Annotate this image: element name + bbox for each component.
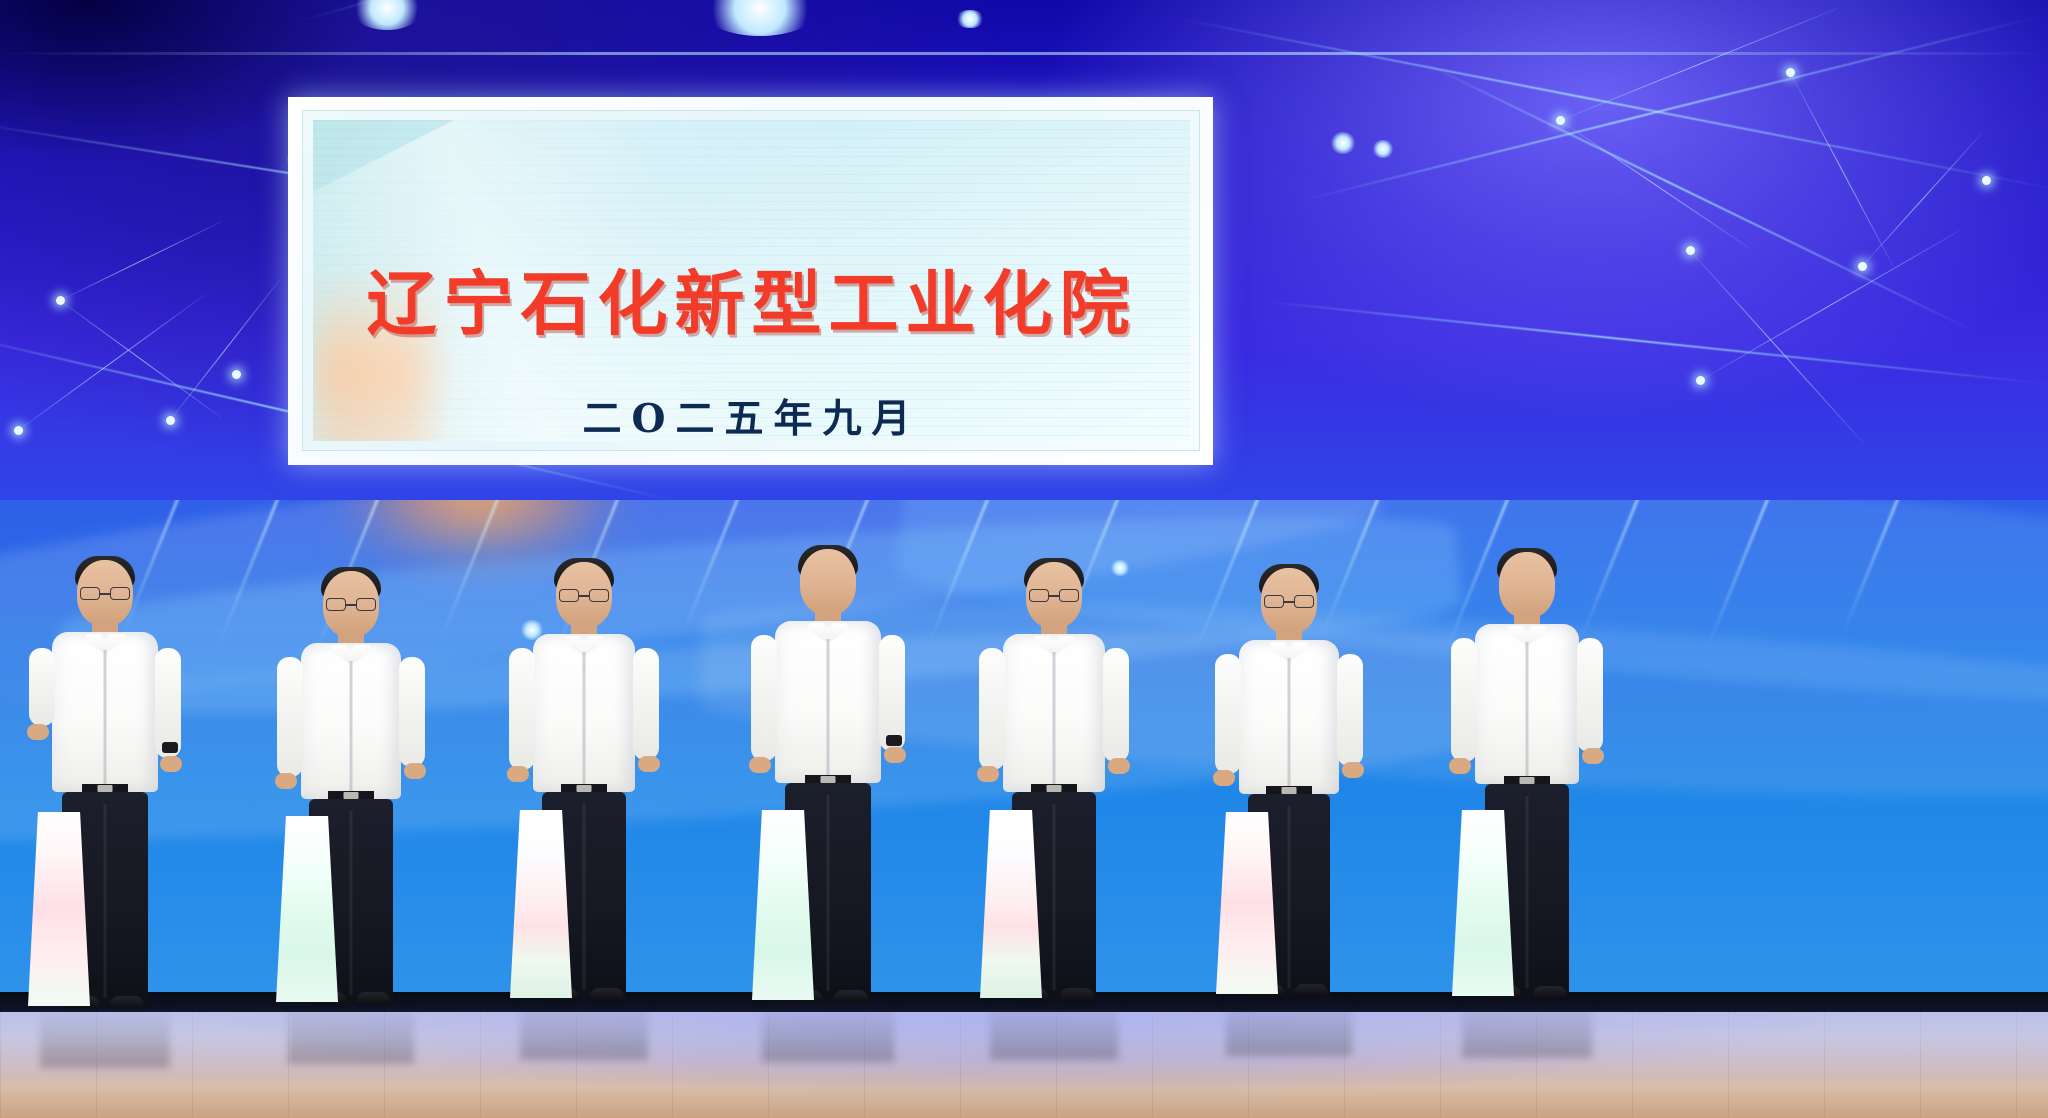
right-arm bbox=[1337, 654, 1363, 766]
left-hand bbox=[507, 766, 529, 782]
backdrop-glow bbox=[1330, 132, 1356, 154]
network-node bbox=[1858, 262, 1867, 271]
participant-reflection bbox=[1226, 994, 1352, 1056]
right-hand bbox=[160, 756, 182, 772]
right-hand bbox=[404, 763, 426, 779]
panel-screen: 辽宁石化新型工业化院 二O二五年九月 bbox=[313, 120, 1190, 441]
backdrop-horizon-line bbox=[0, 52, 2048, 55]
shirt-placket bbox=[350, 661, 353, 795]
network-node bbox=[1556, 116, 1565, 125]
podium-3[interactable] bbox=[510, 810, 572, 998]
right-arm bbox=[399, 657, 425, 767]
belt-buckle bbox=[1282, 787, 1297, 794]
network-node bbox=[166, 416, 175, 425]
head bbox=[800, 549, 856, 615]
right-arm bbox=[879, 635, 905, 751]
network-node bbox=[56, 296, 65, 305]
leg-split bbox=[1526, 796, 1529, 988]
head bbox=[1261, 568, 1317, 634]
participant-reflection bbox=[762, 1000, 894, 1062]
head bbox=[1026, 562, 1082, 628]
right-hand bbox=[638, 756, 660, 772]
belt-buckle bbox=[98, 785, 113, 792]
participant-reflection bbox=[520, 998, 648, 1060]
left-arm bbox=[509, 648, 535, 770]
leg-split bbox=[583, 804, 586, 990]
network-node bbox=[1786, 68, 1795, 77]
wristwatch bbox=[886, 735, 902, 746]
glasses-icon bbox=[80, 587, 130, 600]
left-arm bbox=[277, 657, 303, 777]
belt-buckle bbox=[821, 776, 836, 783]
backdrop-glow bbox=[955, 10, 985, 28]
page-title: 辽宁石化新型工业化院 bbox=[313, 248, 1190, 349]
leg-split bbox=[104, 804, 107, 998]
shirt bbox=[301, 643, 401, 799]
shirt bbox=[1239, 640, 1339, 794]
left-hand bbox=[977, 766, 999, 782]
belt-buckle bbox=[1520, 777, 1535, 784]
belt-buckle bbox=[1047, 785, 1062, 792]
shirt-placket bbox=[104, 650, 107, 788]
shirt bbox=[533, 634, 635, 792]
network-line bbox=[1789, 72, 1894, 267]
shirt bbox=[1003, 634, 1105, 792]
panel-date: 二O二五年九月 bbox=[313, 388, 1190, 441]
network-line bbox=[1861, 132, 1982, 267]
network-line bbox=[1560, 120, 1751, 250]
glasses-icon bbox=[1029, 589, 1079, 602]
podium-7[interactable] bbox=[1452, 810, 1514, 996]
left-arm bbox=[29, 648, 55, 726]
network-line bbox=[169, 278, 281, 421]
backdrop-glow bbox=[700, 0, 820, 36]
right-arm bbox=[1577, 638, 1603, 752]
network-line bbox=[60, 300, 223, 419]
podium-6[interactable] bbox=[1216, 812, 1278, 994]
belt-buckle bbox=[577, 785, 592, 792]
left-hand bbox=[27, 724, 49, 740]
left-arm bbox=[1451, 638, 1477, 762]
participant-reflection bbox=[288, 1002, 414, 1064]
right-arm bbox=[633, 648, 659, 760]
participant-reflection bbox=[990, 998, 1118, 1060]
leg-split bbox=[1288, 806, 1291, 988]
podium-2[interactable] bbox=[276, 816, 338, 1002]
belt-buckle bbox=[344, 792, 359, 799]
right-arm bbox=[1103, 648, 1129, 762]
left-arm bbox=[751, 635, 777, 761]
network-line bbox=[60, 221, 222, 301]
participant-reflection bbox=[1462, 996, 1592, 1058]
left-arm bbox=[979, 648, 1005, 770]
head bbox=[1499, 552, 1555, 618]
leg-split bbox=[1053, 804, 1056, 990]
shirt-placket bbox=[583, 652, 586, 788]
shirt-placket bbox=[1288, 658, 1291, 790]
network-node bbox=[1982, 176, 1991, 185]
light-beam bbox=[1180, 18, 2048, 192]
network-node bbox=[14, 426, 23, 435]
left-hand bbox=[1213, 770, 1235, 786]
head bbox=[77, 560, 133, 626]
stage-photo: 辽宁石化新型工业化院 二O二五年九月 bbox=[0, 0, 2048, 1118]
shirt bbox=[52, 632, 158, 792]
podium-4[interactable] bbox=[752, 810, 814, 1000]
shirt-placket bbox=[1053, 652, 1056, 788]
wristwatch bbox=[162, 742, 178, 753]
glasses-icon bbox=[326, 598, 376, 611]
podium-1[interactable] bbox=[28, 812, 90, 1006]
leg-split bbox=[827, 795, 830, 991]
network-node bbox=[1696, 376, 1705, 385]
participant-reflection bbox=[40, 1006, 170, 1068]
presentation-panel: 辽宁石化新型工业化院 二O二五年九月 bbox=[288, 97, 1213, 465]
left-hand bbox=[275, 773, 297, 789]
panel-frame: 辽宁石化新型工业化院 二O二五年九月 bbox=[302, 110, 1200, 451]
shirt-placket bbox=[827, 639, 830, 779]
glasses-icon bbox=[559, 589, 609, 602]
light-beam bbox=[1300, 16, 2038, 202]
leg-split bbox=[350, 811, 353, 995]
shirt bbox=[1475, 624, 1579, 784]
glasses-icon bbox=[1264, 595, 1314, 608]
shirt bbox=[775, 621, 881, 783]
left-hand bbox=[749, 757, 771, 773]
head bbox=[323, 571, 379, 637]
network-line bbox=[1560, 8, 1839, 122]
shirt-placket bbox=[1526, 642, 1529, 780]
head bbox=[556, 562, 612, 628]
light-beam bbox=[1260, 300, 2048, 386]
left-hand bbox=[1449, 758, 1471, 774]
left-arm bbox=[1215, 654, 1241, 774]
right-hand bbox=[1582, 748, 1604, 764]
right-hand bbox=[884, 747, 906, 763]
right-hand bbox=[1108, 758, 1130, 774]
podium-5[interactable] bbox=[980, 810, 1042, 998]
network-node bbox=[232, 370, 241, 379]
network-node bbox=[1686, 246, 1695, 255]
right-hand bbox=[1342, 762, 1364, 778]
backdrop-glow bbox=[1372, 140, 1394, 158]
